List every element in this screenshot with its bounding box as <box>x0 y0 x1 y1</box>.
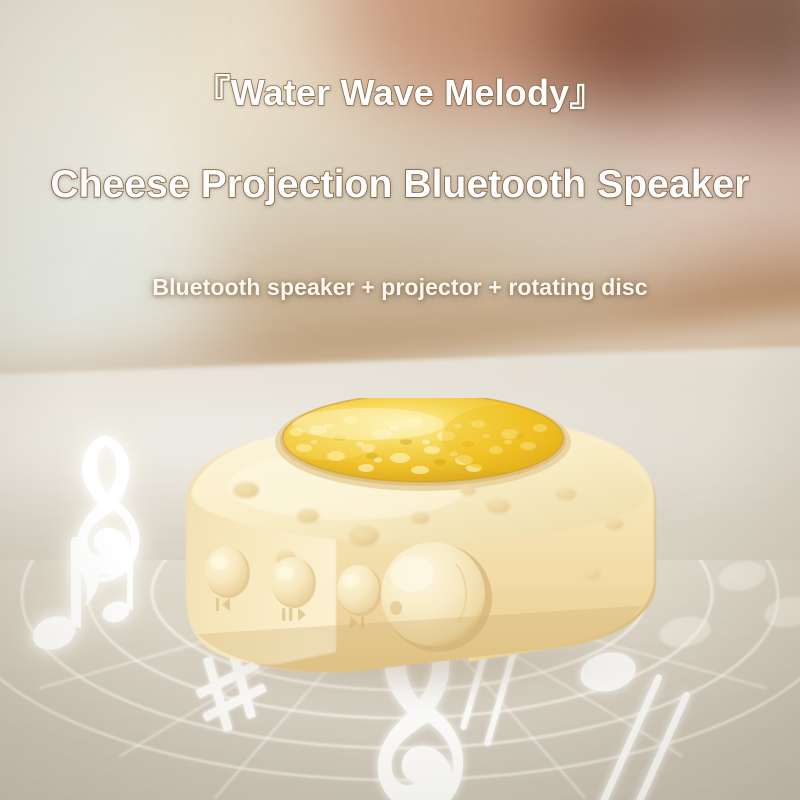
product-banner: 『Water Wave Melody』 Cheese Projection Bl… <box>0 0 800 800</box>
knob-dimple <box>390 601 402 615</box>
cheese-projection-bluetooth-speaker[interactable] <box>168 398 668 678</box>
